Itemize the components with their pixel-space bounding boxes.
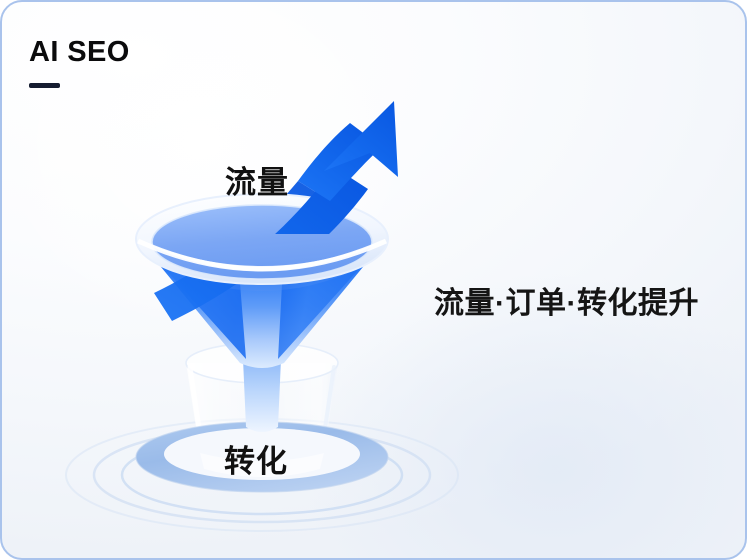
headline-text: 流量·订单·转化提升 [434,278,699,322]
label-conversion: 转化 [224,436,288,481]
label-traffic: 流量 [225,157,289,202]
title-block: AI SEO [29,38,130,88]
funnel-stem [243,359,281,432]
page-title: AI SEO [29,38,130,67]
ai-seo-funnel-card: AI SEO 流量·订单·转化提升 [0,0,747,560]
title-underline-rule [29,83,60,88]
